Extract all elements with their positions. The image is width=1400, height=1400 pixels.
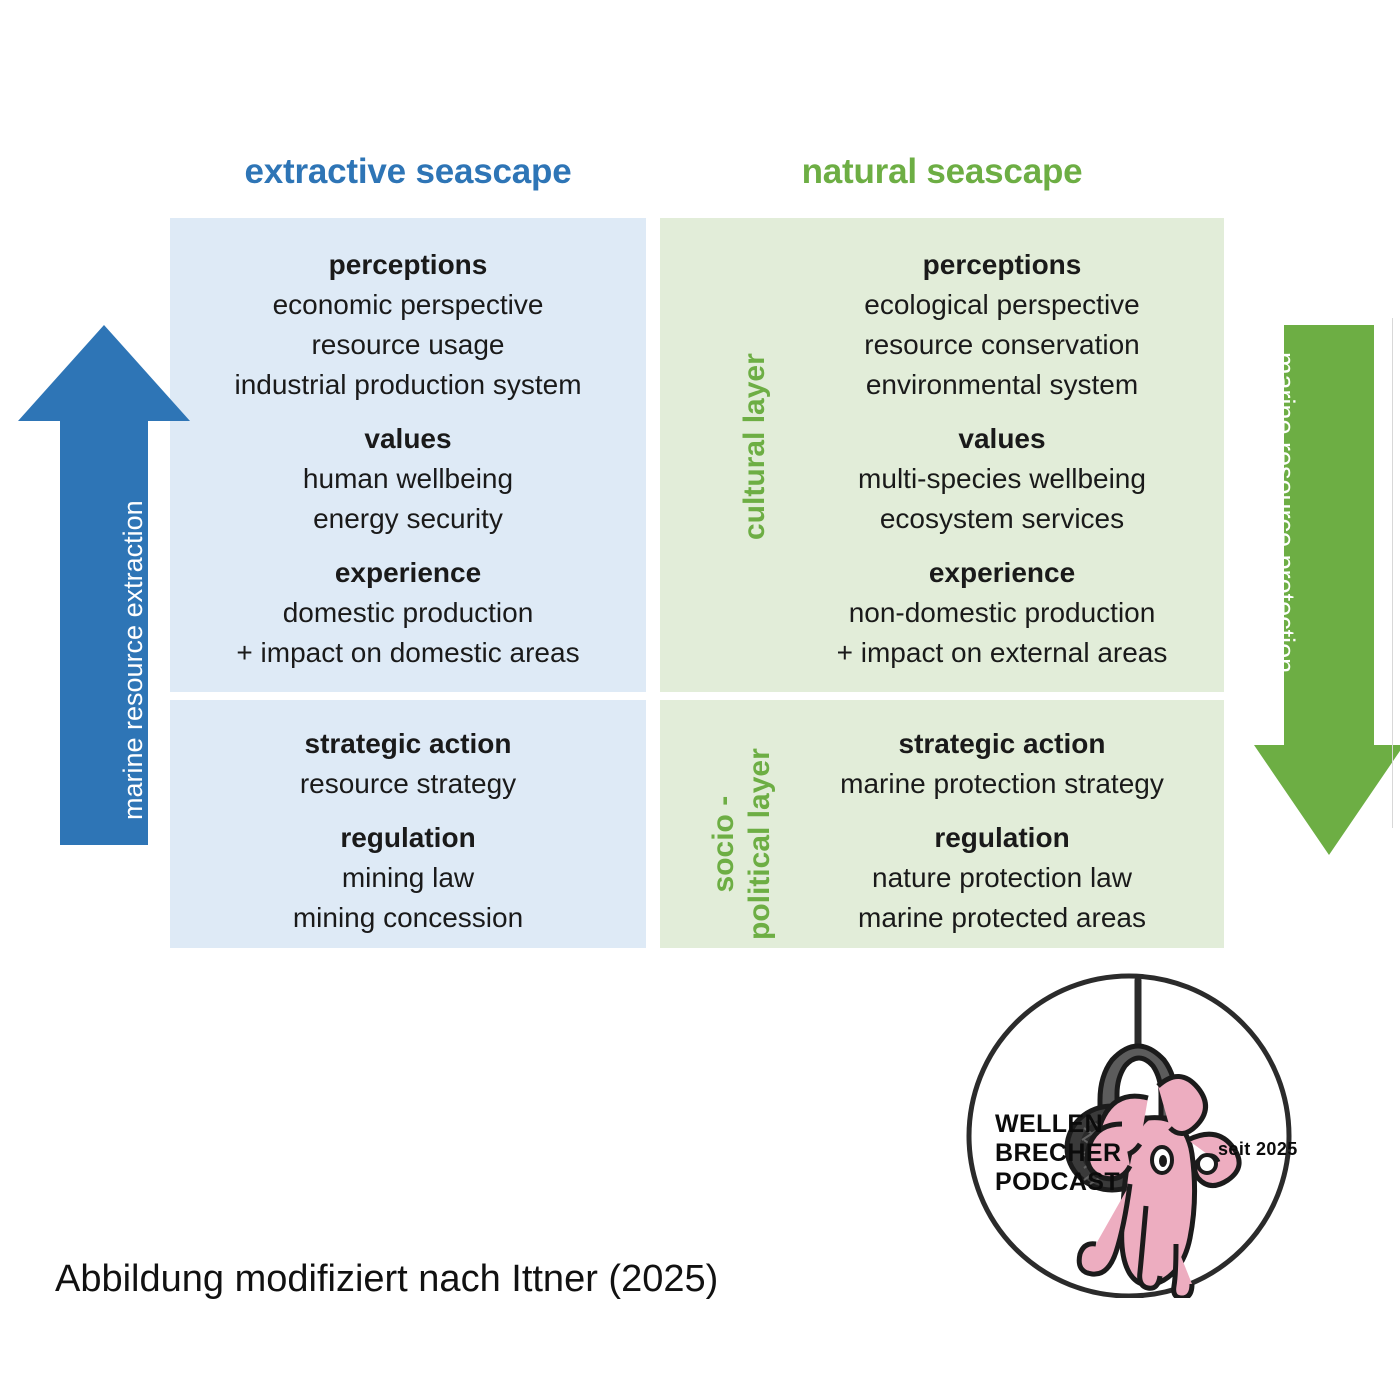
figure-caption: Abbildung modifiziert nach Ittner (2025) — [55, 1258, 718, 1301]
text-natural-cultural: perceptions ecological perspective resou… — [780, 245, 1224, 673]
group-heading: perceptions — [170, 245, 646, 285]
group-perceptions: perceptions ecological perspective resou… — [780, 245, 1224, 405]
group-heading: perceptions — [780, 245, 1224, 285]
logo-since-label: seit 2025 — [1218, 1135, 1298, 1164]
logo-wordmark: WELLEN BRECHER PODCAST — [995, 1110, 1121, 1197]
group-perceptions: perceptions economic perspective resourc… — [170, 245, 646, 405]
column-header-natural-seascape: natural seascape — [660, 152, 1224, 192]
group-line: multi-species wellbeing — [780, 459, 1224, 499]
group-heading: values — [780, 419, 1224, 459]
logo-wordmark-line2: BRECHER — [995, 1139, 1121, 1168]
group-line: domestic production — [170, 593, 646, 633]
image-edge-artifact — [1392, 318, 1393, 828]
arrow-left-label: marine resource extraction — [118, 500, 149, 820]
group-line: economic perspective — [170, 285, 646, 325]
group-experience: experience non-domestic production + imp… — [780, 553, 1224, 673]
group-line: environmental system — [780, 365, 1224, 405]
logo-wordmark-line1: WELLEN — [995, 1110, 1121, 1139]
group-line: mining law — [170, 858, 646, 898]
column-header-extractive-seascape: extractive seascape — [170, 152, 646, 192]
group-heading: strategic action — [780, 724, 1224, 764]
group-line: human wellbeing — [170, 459, 646, 499]
group-line: marine protection strategy — [780, 764, 1224, 804]
group-line: resource strategy — [170, 764, 646, 804]
group-line: resource conservation — [780, 325, 1224, 365]
text-natural-socio-political: strategic action marine protection strat… — [780, 724, 1224, 938]
group-regulation: regulation nature protection law marine … — [780, 818, 1224, 938]
group-strategic-action: strategic action marine protection strat… — [780, 724, 1224, 804]
text-extractive-cultural: perceptions economic perspective resourc… — [170, 245, 646, 673]
group-experience: experience domestic production + impact … — [170, 553, 646, 673]
group-line: industrial production system — [170, 365, 646, 405]
text-extractive-socio-political: strategic action resource strategy regul… — [170, 724, 646, 938]
group-heading: regulation — [170, 818, 646, 858]
group-line: ecological perspective — [780, 285, 1224, 325]
group-line: mining concession — [170, 898, 646, 938]
group-line: resource usage — [170, 325, 646, 365]
group-heading: experience — [780, 553, 1224, 593]
group-line: nature protection law — [780, 858, 1224, 898]
group-line: marine protected areas — [780, 898, 1224, 938]
group-line: non-domestic production — [780, 593, 1224, 633]
group-regulation: regulation mining law mining concession — [170, 818, 646, 938]
layer-label-cultural: cultural layer — [737, 353, 773, 540]
group-line: + impact on domestic areas — [170, 633, 646, 673]
group-heading: values — [170, 419, 646, 459]
group-heading: regulation — [780, 818, 1224, 858]
layer-label-socio-line2: political layer — [742, 748, 778, 940]
arrow-right-label: marine resource protection — [1269, 352, 1300, 673]
figure-canvas: extractive seascape natural seascape cul… — [0, 0, 1400, 1400]
group-values: values human wellbeing energy security — [170, 419, 646, 539]
group-strategic-action: strategic action resource strategy — [170, 724, 646, 804]
arrow-up-icon — [18, 325, 190, 845]
layer-label-socio-political: socio - political layer — [706, 748, 778, 940]
group-heading: experience — [170, 553, 646, 593]
layer-label-socio-line1: socio - — [707, 796, 740, 893]
group-line: + impact on external areas — [780, 633, 1224, 673]
group-values: values multi-species wellbeing ecosystem… — [780, 419, 1224, 539]
logo-wordmark-line3: PODCAST — [995, 1168, 1121, 1197]
group-line: ecosystem services — [780, 499, 1224, 539]
group-heading: strategic action — [170, 724, 646, 764]
arrow-marine-resource-extraction — [18, 325, 190, 845]
group-line: energy security — [170, 499, 646, 539]
